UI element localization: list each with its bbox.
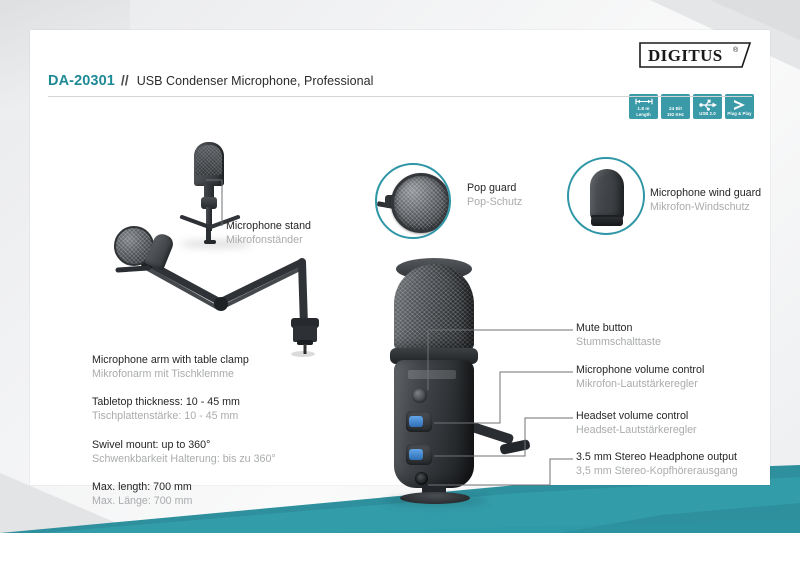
feature-badges: 1.8 m Length 24 Bit 192 KHz	[629, 94, 754, 119]
label-stand-de: Mikrofonständer	[226, 234, 311, 248]
callout-mute-de: Stummschalttaste	[576, 336, 661, 350]
label-wind-en: Microphone wind guard	[650, 187, 761, 201]
length-measure-icon	[634, 97, 654, 106]
spec-arm-en: Microphone arm with table clamp	[92, 354, 249, 368]
callout-micvol-de: Mikrofon-Lautstärkeregler	[576, 378, 704, 392]
usb-icon	[698, 99, 718, 111]
callout-headphone-output: 3.5 mm Stereo Headphone output 3,5 mm St…	[576, 451, 738, 478]
badge-plug-and-play: Plug & Play	[725, 94, 754, 119]
play-arrow-icon	[732, 99, 748, 111]
spec-swivel-en: Swivel mount: up to 360°	[92, 439, 276, 453]
label-pop-en: Pop guard	[467, 182, 522, 196]
page-title: DA-20301 // USB Condenser Microphone, Pr…	[48, 72, 373, 89]
svg-text:®: ®	[733, 46, 739, 54]
callout-hpout-de: 3,5 mm Stereo-Kopfhörerausgang	[576, 465, 738, 479]
title-separator: //	[121, 72, 129, 88]
wind-guard-circle-photo	[567, 157, 645, 235]
microphone-volume-knob	[406, 411, 432, 432]
product-title: USB Condenser Microphone, Professional	[137, 74, 374, 88]
callout-mute-button: Mute button Stummschalttaste	[576, 322, 661, 349]
spec-maxlen-de: Max. Länge: 700 mm	[92, 495, 192, 509]
audio-resolution-icon	[667, 97, 685, 106]
pop-guard-circle-photo	[375, 163, 451, 239]
label-wind-guard: Microphone wind guard Mikrofon-Windschut…	[650, 187, 761, 214]
spec-swivel-de: Schwenkbarkeit Halterung: bis zu 360°	[92, 453, 276, 467]
spec-arm-de: Mikrofonarm mit Tischklemme	[92, 368, 249, 382]
datasheet-page: DIGITUS ® 1.8 m Length	[0, 0, 800, 533]
mute-button-control	[412, 388, 427, 403]
badge-usb-label: USB 2.0	[699, 111, 716, 116]
content-card: DIGITUS ® 1.8 m Length	[30, 30, 770, 485]
label-pop-de: Pop-Schutz	[467, 196, 522, 210]
callout-micvol-en: Microphone volume control	[576, 364, 704, 378]
badge-audio-resolution: 24 Bit 192 KHz	[661, 94, 690, 119]
callout-hpout-en: 3.5 mm Stereo Headphone output	[576, 451, 738, 465]
callout-mute-en: Mute button	[576, 322, 661, 336]
badge-length-label: Length	[636, 112, 651, 117]
spec-thickness-en: Tabletop thickness: 10 - 45 mm	[92, 396, 240, 410]
label-wind-de: Mikrofon-Windschutz	[650, 201, 761, 215]
microphone-grille	[394, 264, 474, 350]
callout-headset-volume: Headset volume control Headset-Lautstärk…	[576, 410, 697, 437]
spec-maxlen-en: Max. length: 700 mm	[92, 481, 192, 495]
badge-samplerate-value: 192 KHz	[667, 112, 684, 117]
spec-swivel-mount: Swivel mount: up to 360° Schwenkbarkeit …	[92, 439, 276, 466]
spec-thickness-de: Tischplattenstärke: 10 - 45 mm	[92, 410, 240, 424]
main-microphone-photo	[360, 252, 510, 502]
callout-microphone-volume: Microphone volume control Mikrofon-Lauts…	[576, 364, 704, 391]
spec-tabletop-thickness: Tabletop thickness: 10 - 45 mm Tischplat…	[92, 396, 240, 423]
label-microphone-stand: Microphone stand Mikrofonständer	[226, 220, 311, 247]
spec-microphone-arm: Microphone arm with table clamp Mikrofon…	[92, 354, 249, 381]
spec-max-length: Max. length: 700 mm Max. Länge: 700 mm	[92, 481, 192, 508]
product-sku: DA-20301	[48, 73, 115, 89]
label-stand-en: Microphone stand	[226, 220, 311, 234]
callout-hsvol-de: Headset-Lautstärkeregler	[576, 424, 697, 438]
badge-usb: USB 2.0	[693, 94, 722, 119]
badge-cable-length: 1.8 m Length	[629, 94, 658, 119]
callout-hsvol-en: Headset volume control	[576, 410, 697, 424]
headset-volume-knob	[406, 444, 432, 465]
svg-text:DIGITUS: DIGITUS	[648, 46, 723, 65]
digitus-logo: DIGITUS ®	[638, 40, 754, 70]
header-divider	[48, 96, 752, 97]
label-pop-guard: Pop guard Pop-Schutz	[467, 182, 522, 209]
badge-plug-play-label: Plug & Play	[727, 111, 751, 116]
